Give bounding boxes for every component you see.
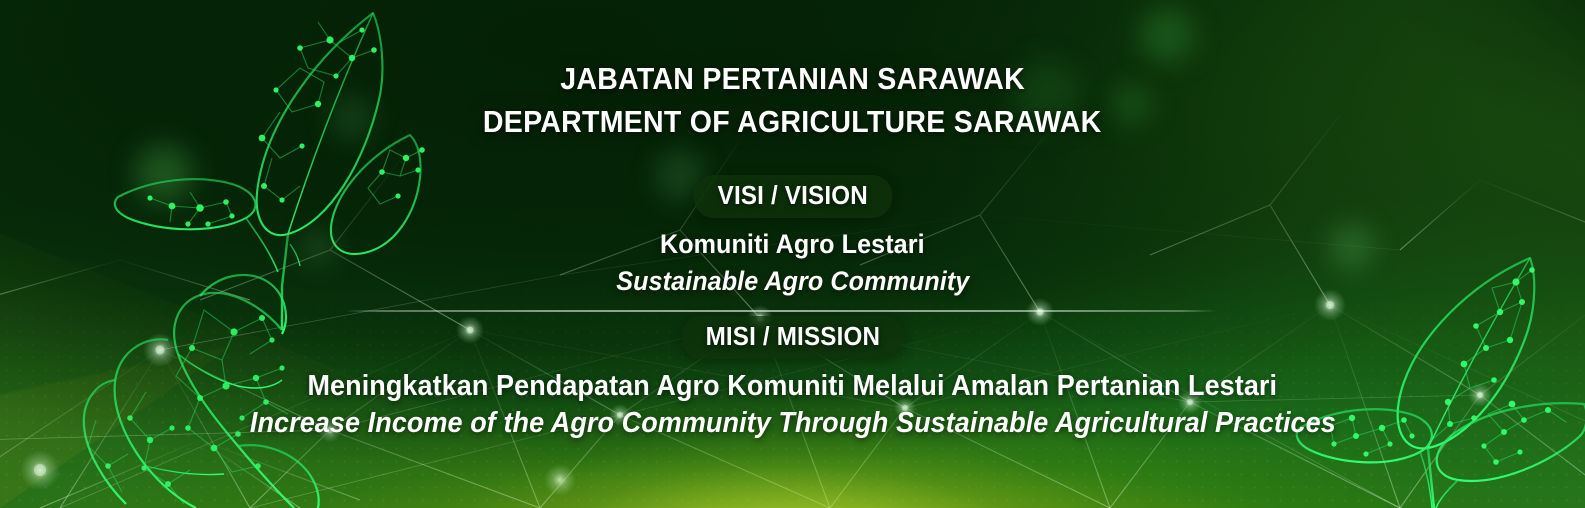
agriculture-department-banner: JABATAN PERTANIAN SARAWAK DEPARTMENT OF …: [0, 0, 1585, 508]
organization-title-english: DEPARTMENT OF AGRICULTURE SARAWAK: [483, 101, 1102, 143]
mission-statement-malay: Meningkatkan Pendapatan Agro Komuniti Me…: [308, 369, 1278, 403]
vision-statement-english: Sustainable Agro Community: [616, 264, 969, 298]
banner-content: JABATAN PERTANIAN SARAWAK DEPARTMENT OF …: [0, 0, 1585, 508]
vision-section-badge: VISI / VISION: [693, 175, 892, 218]
mission-statement-english: Increase Income of the Agro Community Th…: [250, 406, 1336, 440]
vision-statement-malay: Komuniti Agro Lestari: [660, 227, 925, 261]
mission-section-badge: MISI / MISSION: [681, 316, 904, 359]
organization-title-malay: JABATAN PERTANIAN SARAWAK: [560, 58, 1025, 100]
